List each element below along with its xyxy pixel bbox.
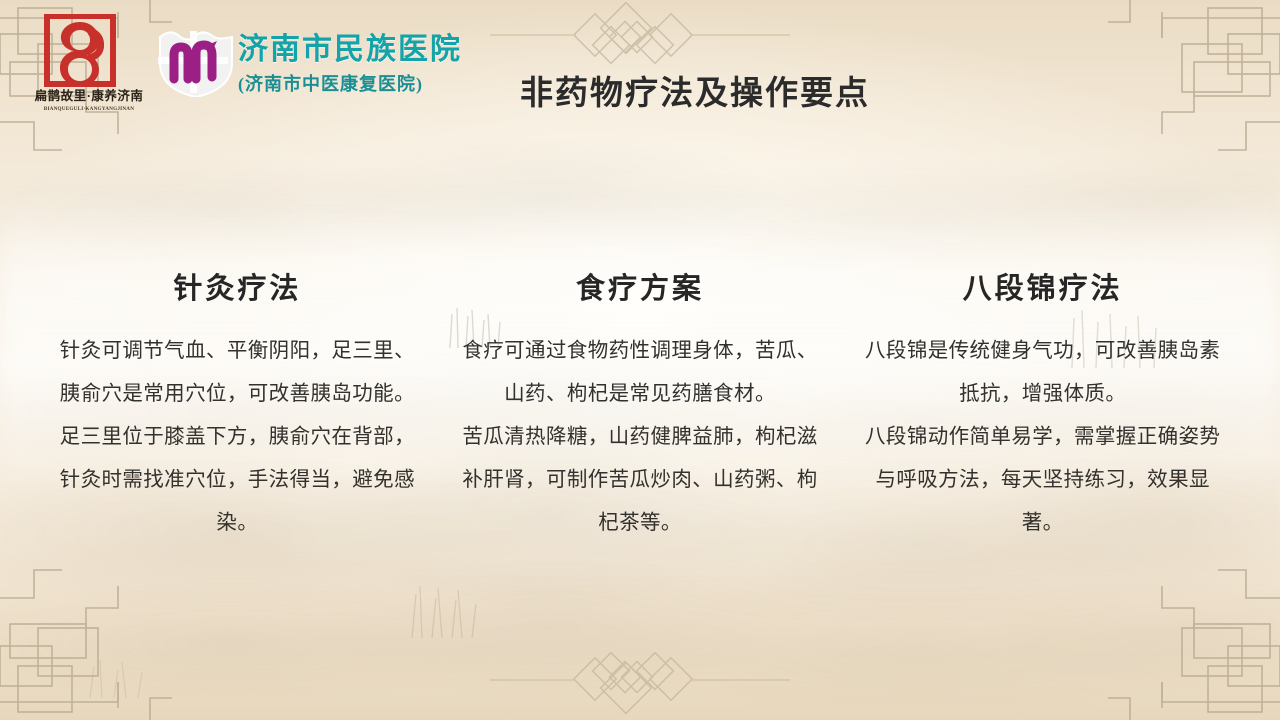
- column-title: 针灸疗法: [52, 265, 423, 307]
- content-column-acupuncture: 针灸疗法 针灸可调节气血、平衡阴阳，足三里、胰俞穴是常用穴位，可改善胰岛功能。 …: [52, 265, 423, 544]
- seal-stamp-icon: 扁鹊故里·康养济南 BIANQUEGULI·KANGYANGJINAN: [33, 14, 145, 116]
- column-paragraph: 足三里位于膝盖下方，胰俞穴在背部，针灸时需找准穴位，手法得当，避免感染。: [52, 415, 423, 544]
- page-title: 非药物疗法及操作要点: [470, 66, 920, 114]
- content-column-diet-therapy: 食疗方案 食疗可通过食物药性调理身体，苦瓜、山药、枸杞是常见药膳食材。 苦瓜清热…: [455, 265, 826, 544]
- diamond-lattice-ornament-bottom: [490, 652, 790, 718]
- reed-grass-icon: [400, 560, 490, 640]
- content-column-baduanjin: 八段锦疗法 八段锦是传统健身气功，可改善胰岛素抵抗，增强体质。 八段锦动作简单易…: [857, 265, 1228, 544]
- ink-wash-band: [0, 140, 1280, 270]
- reed-grass-icon: [80, 640, 160, 700]
- column-paragraph: 八段锦动作简单易学，需掌握正确姿势与呼吸方法，每天坚持练习，效果显著。: [857, 415, 1228, 544]
- column-paragraph: 苦瓜清热降糖，山药健脾益肺，枸杞滋补肝肾，可制作苦瓜炒肉、山药粥、枸杞茶等。: [455, 415, 826, 544]
- key-fret-corner-ornament-bottom-right: [1070, 540, 1280, 720]
- slide-header: 扁鹊故里·康养济南 BIANQUEGULI·KANGYANGJINAN 济南市民…: [0, 0, 1280, 130]
- ink-wash-band: [0, 560, 1280, 710]
- hospital-name-sub: (济南市中医康复医院): [238, 70, 468, 96]
- column-paragraph: 食疗可通过食物药性调理身体，苦瓜、山药、枸杞是常见药膳食材。: [455, 329, 826, 415]
- hospital-emblem-icon: [152, 25, 240, 97]
- column-paragraph: 八段锦是传统健身气功，可改善胰岛素抵抗，增强体质。: [857, 329, 1228, 415]
- hospital-name-main: 济南市民族医院: [238, 24, 468, 68]
- key-fret-corner-ornament-bottom-left: [0, 540, 210, 720]
- hospital-name-block: 济南市民族医院 (济南市中医康复医院): [238, 24, 468, 96]
- column-title: 八段锦疗法: [857, 265, 1228, 307]
- column-title: 食疗方案: [455, 265, 826, 307]
- seal-slogan-pinyin: BIANQUEGULI·KANGYANGJINAN: [44, 106, 134, 112]
- column-paragraph: 针灸可调节气血、平衡阴阳，足三里、胰俞穴是常用穴位，可改善胰岛功能。: [52, 329, 423, 415]
- content-columns: 针灸疗法 针灸可调节气血、平衡阴阳，足三里、胰俞穴是常用穴位，可改善胰岛功能。 …: [52, 265, 1228, 544]
- slide-canvas: 扁鹊故里·康养济南 BIANQUEGULI·KANGYANGJINAN 济南市民…: [0, 0, 1280, 720]
- seal-slogan: 扁鹊故里·康养济南: [34, 88, 144, 103]
